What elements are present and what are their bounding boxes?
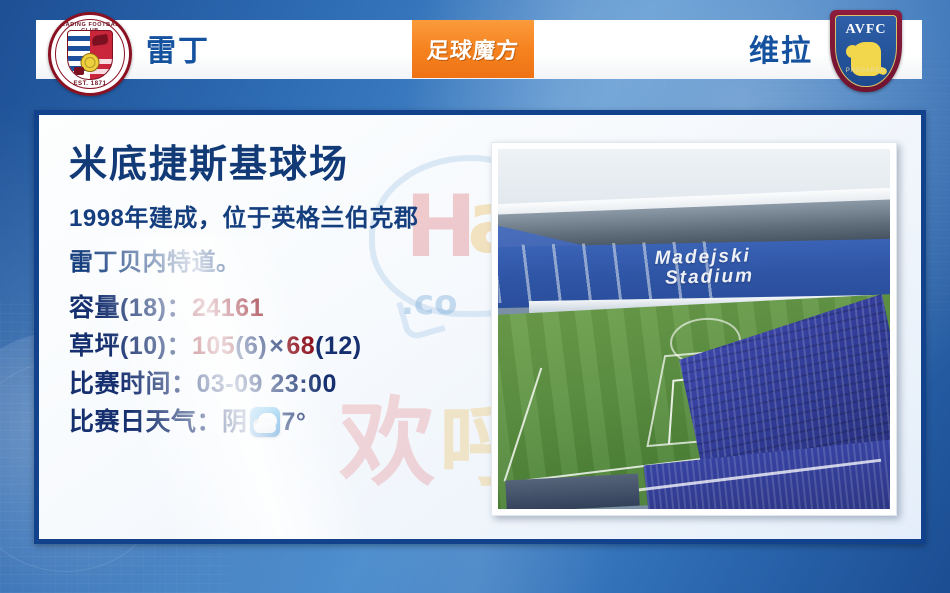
crest-hoop [68, 46, 90, 51]
stadium-description-line-1: 1998年建成，位于英格兰伯克郡 [69, 201, 499, 237]
site-logo[interactable]: 足球魔方 [412, 20, 534, 78]
weather-label: 比赛日天气： [69, 403, 222, 441]
match-time-label: 比赛时间： [69, 365, 197, 403]
crest-bottom-text: EST. 1871 [51, 81, 129, 87]
pitch-row: 草坪(10)： 105 (6) × 68 (12) [69, 327, 499, 365]
reading-fc-crest-icon: READING FOOTBALL CLUB EST. 1871 [48, 12, 132, 96]
stadium-description-line-2: 雷丁贝内特道。 [69, 245, 499, 281]
stadium-info-panel: H a .co 欢 呼 米底捷斯基球场 1998年建成，位于英格兰伯克郡 雷丁贝… [34, 110, 926, 544]
site-logo-text: 足球魔方 [410, 20, 536, 78]
weather-row: 比赛日天气： 阴 7° [69, 403, 499, 441]
villa-initials: AVFC [836, 22, 896, 38]
weather-temperature: 7° [282, 403, 307, 441]
pitch-length: 105 [192, 327, 235, 365]
crest-horse-icon [91, 34, 108, 46]
photo-tunnel [505, 473, 640, 509]
pitch-times-symbol: × [267, 327, 286, 365]
home-team-name: 雷丁 [146, 26, 210, 70]
madejski-stadium-photo: Madejski Stadium [498, 149, 890, 509]
pitch-width-rank: (12) [315, 327, 361, 365]
crest-head-icon [74, 67, 84, 75]
cloud-part-front [254, 423, 276, 433]
villa-shield-inner: AVFC PREPARED [835, 15, 897, 87]
crest-hoop [68, 36, 90, 41]
header-bar: READING FOOTBALL CLUB EST. 1871 雷丁 足球魔方 … [0, 0, 950, 100]
away-team-name: 维拉 [749, 26, 813, 70]
match-info-page: READING FOOTBALL CLUB EST. 1871 雷丁 足球魔方 … [0, 0, 950, 593]
photo-stand-signage: Madejski Stadium [654, 243, 883, 303]
stadium-title: 米底捷斯基球场 [69, 145, 499, 187]
pitch-label: 草坪(10)： [69, 327, 192, 365]
stand-text-line2: Stadium [665, 263, 883, 289]
stadium-info-text: 米底捷斯基球场 1998年建成，位于英格兰伯克郡 雷丁贝内特道。 容量(18)：… [69, 145, 499, 441]
stadium-photo-frame[interactable]: Madejski Stadium [491, 142, 897, 516]
cloudy-weather-icon [250, 407, 280, 437]
capacity-label: 容量(18)： [69, 289, 192, 327]
pitch-width: 68 [286, 327, 315, 365]
villa-motto: PREPARED [836, 68, 896, 74]
crest-shield [67, 30, 113, 80]
weather-condition: 阴 [222, 403, 248, 441]
capacity-value: 24161 [192, 289, 264, 327]
match-time-value: 03-09 23:00 [197, 365, 337, 403]
pitch-length-rank: (6) [235, 327, 267, 365]
match-time-row: 比赛时间： 03-09 23:00 [69, 365, 499, 403]
capacity-row: 容量(18)： 24161 [69, 289, 499, 327]
aston-villa-crest-icon: AVFC PREPARED [830, 10, 902, 92]
